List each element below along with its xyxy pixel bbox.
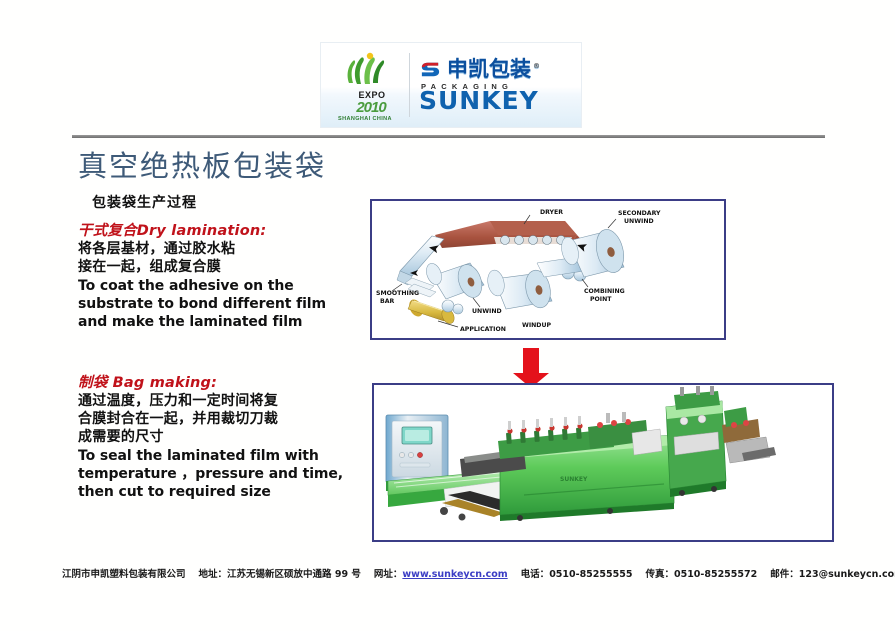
svg-text:DRYER: DRYER <box>540 209 563 216</box>
footer-website-label: 网址： <box>374 569 403 580</box>
section-cn-line: 合膜封合在一起，并用裁切刀裁 <box>78 411 368 429</box>
footer-company: 江阴市申凯塑料包装有限公司 <box>62 566 186 580</box>
footer-address-value: 江苏无锡新区硕放中通路 99 号 <box>227 569 361 580</box>
lamination-diagram-image: DRYER SECONDARY UNWIND SMOOTHING BAR UNW… <box>372 201 724 338</box>
expo-emblem-icon <box>339 50 391 90</box>
footer-fax-value: 0510-85255572 <box>674 569 757 580</box>
footer-address-group: 地址：江苏无锡新区硕放中通路 99 号 <box>199 566 361 580</box>
section-en-line: substrate to bond different film <box>78 296 368 313</box>
svg-text:COMBINING: COMBINING <box>584 288 625 295</box>
title-divider-rule <box>72 135 825 138</box>
section-cn-line: 将各层基材，通过胶水粘 <box>78 241 368 259</box>
section-bag-making: 制袋 Bag making: 通过温度，压力和一定时间将复 合膜封合在一起，并用… <box>78 374 368 501</box>
section-en-line: temperature ，pressure and time, <box>78 466 368 483</box>
svg-text:UNWIND: UNWIND <box>624 218 654 225</box>
footer-phone-label: 电话： <box>521 569 550 580</box>
slide-canvas: EXPO 2010 SHANGHAI CHINA 申凯包装® PACKAGING… <box>0 0 895 631</box>
footer-phone-group: 电话：0510-85255555 <box>521 566 633 580</box>
expo-logo: EXPO 2010 SHANGHAI CHINA <box>321 43 409 127</box>
section-en-line: then cut to required size <box>78 484 368 501</box>
section-dry-lamination: 干式复合Dry lamination: 将各层基材，通过胶水粘 接在一起，组成复… <box>78 222 368 331</box>
footer-address-label: 地址： <box>199 569 228 580</box>
svg-text:UNWIND: UNWIND <box>472 308 502 315</box>
footer-email-label: 邮件： <box>770 569 799 580</box>
svg-text:SMOOTHING: SMOOTHING <box>376 290 419 297</box>
svg-text:SECONDARY: SECONDARY <box>618 210 661 217</box>
page-subtitle: 包装袋生产过程 <box>92 192 197 212</box>
svg-text:BAR: BAR <box>380 298 395 305</box>
sunkey-s-icon <box>419 58 442 81</box>
footer-fax-group: 传真：0510-85255572 <box>645 566 757 580</box>
svg-text:SUNKEY: SUNKEY <box>560 476 588 483</box>
footer-email-value: 123@sunkeycn.com <box>799 569 895 580</box>
lamination-diagram-panel: DRYER SECONDARY UNWIND SMOOTHING BAR UNW… <box>370 199 726 340</box>
section-cn-line: 通过温度，压力和一定时间将复 <box>78 393 368 411</box>
footer-contact-bar: 江阴市申凯塑料包装有限公司 地址：江苏无锡新区硕放中通路 99 号 网址：www… <box>62 566 852 580</box>
page-title: 真空绝热板包装袋 <box>78 143 326 185</box>
section-en-line: and make the laminated film <box>78 314 368 331</box>
brand-name-en: SUNKEY <box>419 90 581 113</box>
section-en-line: To seal the laminated film with <box>78 448 368 465</box>
footer-website-link[interactable]: www.sunkeycn.com <box>402 569 507 580</box>
brand-name-cn: 申凯包装® <box>447 59 540 80</box>
bag-machine-panel: SUNKEY <box>372 383 834 542</box>
sunkey-logo: 申凯包装® PACKAGING SUNKEY <box>410 43 581 127</box>
section-en-line: To coat the adhesive on the <box>78 278 368 295</box>
expo-year: 2010 <box>356 100 385 115</box>
footer-fax-label: 传真： <box>645 569 674 580</box>
section-cn-line: 成需要的尺寸 <box>78 429 368 447</box>
svg-text:POINT: POINT <box>590 296 612 303</box>
section-heading: 制袋 Bag making: <box>78 374 368 392</box>
section-heading: 干式复合Dry lamination: <box>78 222 368 240</box>
section-cn-line: 接在一起，组成复合膜 <box>78 259 368 277</box>
footer-website-group: 网址：www.sunkeycn.com <box>374 566 508 580</box>
svg-text:APPLICATION: APPLICATION <box>460 326 506 333</box>
company-logo-banner: EXPO 2010 SHANGHAI CHINA 申凯包装® PACKAGING… <box>320 42 582 128</box>
footer-phone-value: 0510-85255555 <box>549 569 632 580</box>
svg-text:WINDUP: WINDUP <box>522 322 551 329</box>
expo-location: SHANGHAI CHINA <box>338 117 392 123</box>
bag-machine-image: SUNKEY <box>374 385 832 540</box>
footer-email-group: 邮件：123@sunkeycn.com <box>770 566 895 580</box>
registered-mark-icon: ® <box>533 62 540 70</box>
brand-name-cn-text: 申凯包装 <box>447 57 531 81</box>
